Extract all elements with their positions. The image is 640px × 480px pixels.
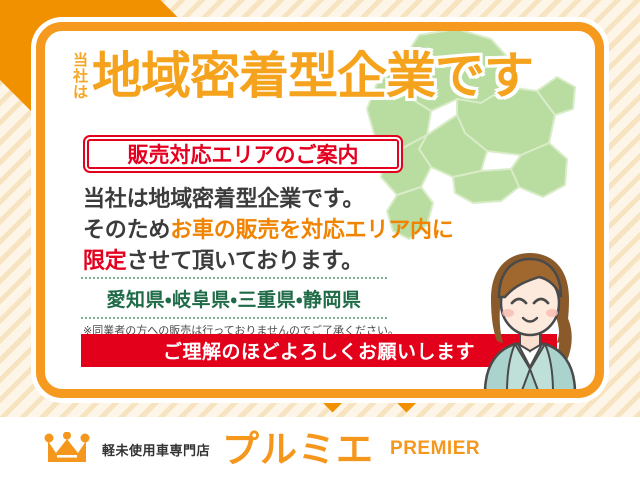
brand-name-en: PREMIER	[390, 438, 480, 460]
headline-prefix-char-1: 当	[73, 53, 88, 68]
brand-tagline: 軽未使用車専門店	[102, 440, 210, 459]
headline-prefix-char-3: は	[73, 85, 88, 100]
body-line-2-highlight: お車の販売を対応エリア内に	[170, 217, 453, 242]
body-line-3-highlight: 限定	[83, 248, 127, 273]
section-badge: 販売対応エリアのご案内	[83, 135, 403, 173]
poster-root: 当 社 は 地域密着型企業です 販売対応エリアのご案内 当社は地域密着型企業です…	[0, 0, 640, 480]
notice-card: 当 社 は 地域密着型企業です 販売対応エリアのご案内 当社は地域密着型企業です…	[36, 22, 604, 398]
staff-woman-illustration	[471, 245, 589, 393]
body-line-2-plain: そのため	[83, 217, 170, 242]
section-badge-label: 販売対応エリアのご案内	[128, 139, 359, 169]
body-copy: 当社は地域密着型企業です。 そのためお車の販売を対応エリア内に 限定させて頂いて…	[83, 183, 454, 277]
headline-prefix: 当 社 は	[73, 53, 88, 100]
cta-label: ご理解のほどよろしくお願いします	[163, 337, 475, 364]
brand-name-jp: プルミエ	[222, 431, 374, 468]
body-line-2: そのためお車の販売を対応エリア内に	[83, 214, 454, 245]
headline-main: 地域密着型企業です	[92, 51, 533, 101]
crown-icon	[44, 432, 90, 466]
prefecture-strip: 愛知県・岐阜県・三重県・静岡県	[81, 277, 387, 319]
body-line-3: 限定させて頂いております。	[83, 245, 454, 276]
body-line-1: 当社は地域密着型企業です。	[83, 183, 454, 214]
headline-prefix-char-2: 社	[73, 69, 88, 84]
headline-block: 当 社 は 地域密着型企業です	[73, 51, 533, 101]
prefecture-list: 愛知県・岐阜県・三重県・静岡県	[107, 290, 362, 311]
body-line-3-plain: させて頂いております。	[127, 248, 363, 273]
brand-footer: 軽未使用車専門店 プルミエ PREMIER	[44, 426, 480, 472]
